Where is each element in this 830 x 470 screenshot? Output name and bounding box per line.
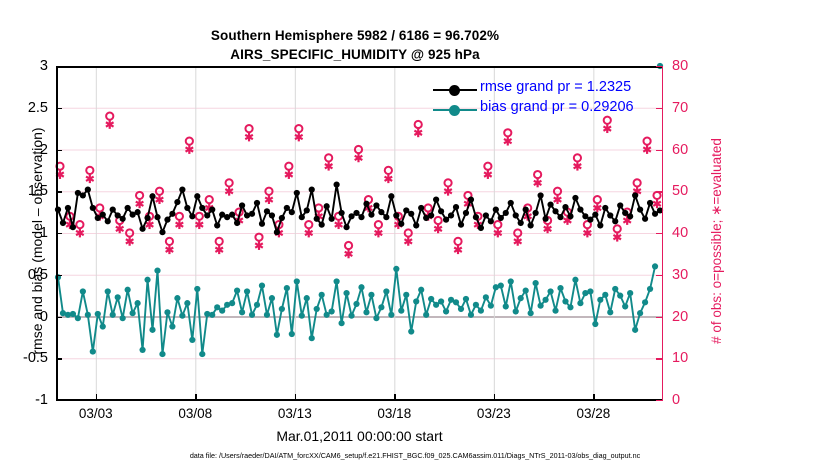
axis-frame-bottom — [56, 399, 663, 401]
series-point — [299, 313, 305, 319]
series-point — [234, 288, 240, 294]
chart-title-line1: Southern Hemisphere 5982 / 6186 = 96.702… — [0, 28, 710, 43]
series-point — [159, 351, 165, 357]
axis-frame-top — [56, 66, 663, 68]
series-point — [274, 229, 280, 235]
series-point — [80, 192, 86, 198]
obs-possible-marker — [534, 171, 541, 178]
series-point — [423, 312, 429, 318]
series-point — [433, 197, 439, 203]
obs-possible-marker — [554, 188, 561, 195]
obs-possible-marker — [345, 242, 352, 249]
series-point — [319, 292, 325, 298]
obs-possible-marker — [226, 179, 233, 186]
obs-evaluated-marker — [385, 174, 393, 183]
series-point — [528, 310, 534, 316]
series-point — [418, 287, 424, 293]
series-point — [115, 294, 121, 300]
series-point — [184, 205, 190, 211]
obs-evaluated-marker — [613, 233, 621, 242]
series-point — [214, 222, 220, 228]
series-point — [209, 312, 215, 318]
series-point — [189, 337, 195, 343]
series-point — [135, 300, 141, 306]
obs-possible-marker — [444, 179, 451, 186]
series-point — [249, 211, 255, 217]
series-point — [597, 297, 603, 303]
series-point — [284, 285, 290, 291]
y-axis-right-tick-mark — [656, 275, 663, 276]
obs-evaluated-marker — [603, 124, 611, 133]
series-point — [632, 192, 638, 198]
series-point — [120, 315, 126, 321]
series-point — [542, 297, 548, 303]
series-point — [284, 205, 290, 211]
series-point — [353, 301, 359, 307]
series-point — [388, 193, 394, 199]
series-point — [498, 215, 504, 221]
obs-possible-marker — [216, 238, 223, 245]
obs-possible-marker — [196, 213, 203, 220]
series-point — [70, 224, 76, 230]
obs-possible-marker — [255, 234, 262, 241]
y-axis-left-tick-mark — [56, 108, 62, 109]
obs-possible-marker — [385, 167, 392, 174]
series-point — [289, 209, 295, 215]
series-point — [478, 225, 484, 231]
series-point — [239, 202, 245, 208]
y-axis-left-tick-mark — [56, 317, 62, 318]
series-point — [219, 308, 225, 314]
obs-possible-marker — [325, 154, 332, 161]
series-point — [319, 222, 325, 228]
obs-possible-marker — [484, 163, 491, 170]
obs-possible-marker — [435, 217, 442, 224]
series-point — [154, 214, 160, 220]
series-point — [642, 299, 648, 305]
obs-evaluated-marker — [335, 220, 343, 229]
obs-evaluated-marker — [444, 187, 452, 196]
series-point — [542, 216, 548, 222]
series-point — [65, 205, 71, 211]
series-point — [572, 195, 578, 201]
obs-possible-marker — [305, 221, 312, 228]
obs-evaluated-marker — [305, 229, 313, 238]
obs-evaluated-marker — [295, 133, 303, 142]
series-point — [577, 300, 583, 306]
x-axis-tick-label: 03/18 — [377, 406, 411, 421]
y-axis-left-tick-mark — [56, 358, 62, 359]
obs-possible-marker — [494, 221, 501, 228]
data-file-caption: data file: /Users/raeder/DAI/ATM_forcXX/… — [0, 451, 830, 460]
series-point — [274, 332, 280, 338]
series-point — [159, 229, 165, 235]
series-point — [363, 309, 369, 315]
x-axis-tick-label: 03/23 — [477, 406, 511, 421]
series-point — [607, 309, 613, 315]
series-point — [70, 311, 76, 317]
series-point — [627, 290, 633, 296]
series-point — [229, 212, 235, 218]
x-axis-tick-label: 03/28 — [576, 406, 610, 421]
series-point — [438, 298, 444, 304]
obs-evaluated-marker — [156, 195, 164, 204]
series-point — [209, 207, 215, 213]
y-axis-right-tick-mark — [656, 191, 663, 192]
y-axis-right-tick-label: 40 — [672, 225, 712, 241]
series-point — [279, 306, 285, 312]
series-point — [647, 286, 653, 292]
x-axis-tick-label: 03/03 — [79, 406, 113, 421]
y-axis-right-tick-label: 0 — [672, 392, 712, 408]
series-point — [95, 311, 101, 317]
obs-possible-marker — [156, 188, 163, 195]
series-point — [125, 205, 131, 211]
series-point — [259, 221, 265, 227]
obs-possible-marker — [425, 204, 432, 211]
series-point — [617, 293, 623, 299]
series-point — [239, 309, 245, 315]
y-axis-right-tick-label: 20 — [672, 309, 712, 325]
series-point — [398, 308, 404, 314]
series-point — [483, 294, 489, 300]
x-axis-tick-mark — [195, 394, 196, 401]
obs-evaluated-marker — [554, 195, 562, 204]
obs-evaluated-marker — [434, 224, 442, 233]
obs-possible-marker — [504, 129, 511, 136]
series-point — [428, 296, 434, 302]
series-point — [577, 207, 583, 213]
obs-possible-marker — [245, 125, 252, 132]
obs-evaluated-marker — [345, 249, 353, 258]
series-point — [229, 300, 235, 306]
series-point — [602, 205, 608, 211]
y-axis-right-tick-label: 60 — [672, 142, 712, 158]
y-axis-right-tick-label: 70 — [672, 100, 712, 116]
y-axis-left-tick-mark — [56, 233, 62, 234]
series-point — [547, 288, 553, 294]
series-point — [254, 302, 260, 308]
series-point — [458, 222, 464, 228]
series-point — [383, 214, 389, 220]
obs-possible-marker — [76, 221, 83, 228]
series-point — [612, 218, 618, 224]
series-point — [602, 292, 608, 298]
series-point — [373, 315, 379, 321]
series-point — [90, 205, 96, 211]
series-point — [368, 212, 374, 218]
series-point — [264, 312, 270, 318]
series-point — [174, 199, 180, 205]
series-point — [443, 308, 449, 314]
series-point — [592, 321, 598, 327]
obs-possible-marker — [454, 238, 461, 245]
obs-evaluated-marker — [195, 220, 203, 229]
obs-possible-marker — [166, 238, 173, 245]
y-axis-right-tick-mark — [656, 66, 663, 67]
legend-item-bias[interactable]: bias grand pr = 0.29206 — [433, 100, 658, 120]
obs-evaluated-marker — [504, 137, 512, 146]
obs-possible-marker — [653, 192, 660, 199]
y-axis-left-tick-mark — [56, 150, 62, 151]
series-point — [488, 218, 494, 224]
series-point — [488, 303, 494, 309]
series-point — [652, 263, 658, 269]
series-point — [110, 312, 116, 318]
series-point — [329, 308, 335, 314]
series-point — [393, 266, 399, 272]
y-axis-right-tick-label: 10 — [672, 350, 712, 366]
series-point — [174, 295, 180, 301]
series-point — [453, 299, 459, 305]
series-point — [528, 222, 534, 228]
obs-evaluated-marker — [186, 145, 194, 154]
series-point — [179, 186, 185, 192]
series-point — [627, 213, 633, 219]
obs-evaluated-marker — [404, 237, 412, 246]
series-point — [567, 213, 573, 219]
series-point — [538, 303, 544, 309]
obs-evaluated-marker — [514, 237, 522, 246]
legend-marker-swatch — [449, 85, 460, 96]
series-point — [334, 278, 340, 284]
obs-evaluated-marker — [166, 245, 174, 254]
series-point — [309, 186, 315, 192]
obs-evaluated-marker — [116, 224, 124, 233]
series-point — [567, 304, 573, 310]
obs-evaluated-marker — [574, 162, 582, 171]
series-point — [294, 190, 300, 196]
obs-evaluated-marker — [106, 120, 114, 129]
series-point — [60, 220, 66, 226]
series-point — [378, 304, 384, 310]
series-point — [403, 292, 409, 298]
series-point — [557, 214, 563, 220]
series-point — [587, 217, 593, 223]
series-point — [428, 212, 434, 218]
x-axis-tick-mark — [394, 394, 395, 401]
series-point — [264, 208, 270, 214]
series-point — [552, 308, 558, 314]
series-point — [144, 277, 150, 283]
obs-evaluated-marker — [414, 128, 422, 137]
series-point — [478, 308, 484, 314]
obs-evaluated-marker — [454, 245, 462, 254]
series-point — [139, 226, 145, 232]
series-point — [443, 217, 449, 223]
series-point — [343, 290, 349, 296]
series-point — [632, 327, 638, 333]
series-point — [408, 211, 414, 217]
series-point — [194, 193, 200, 199]
series-point — [338, 320, 344, 326]
obs-evaluated-marker — [265, 195, 273, 204]
obs-possible-marker — [514, 229, 521, 236]
series-point — [468, 312, 474, 318]
series-point — [637, 207, 643, 213]
series-point — [204, 212, 210, 218]
series-point — [562, 204, 568, 210]
series-point — [289, 331, 295, 337]
series-point — [453, 204, 459, 210]
obs-evaluated-marker — [176, 220, 184, 229]
obs-possible-marker — [126, 229, 133, 236]
series-point — [269, 212, 275, 218]
series-point — [607, 212, 613, 218]
y-axis-right-tick-label: 50 — [672, 183, 712, 199]
series-point — [368, 292, 374, 298]
series-point — [358, 214, 364, 220]
obs-possible-marker — [415, 121, 422, 128]
series-point — [587, 288, 593, 294]
series-point — [647, 200, 653, 206]
y-axis-left-label: rmse and bias (model – observation) — [29, 76, 45, 406]
series-point — [338, 210, 344, 216]
y-axis-right-tick-mark — [656, 233, 663, 234]
series-point — [189, 213, 195, 219]
x-axis-tick-label: 03/08 — [178, 406, 212, 421]
x-axis-label: Mar.01,2011 00:00:00 start — [56, 428, 663, 444]
obs-possible-marker — [355, 146, 362, 153]
series-point — [358, 284, 364, 290]
obs-evaluated-marker — [285, 170, 293, 179]
series-point — [80, 288, 86, 294]
series-point — [388, 312, 394, 318]
chart-figure: Southern Hemisphere 5982 / 6186 = 96.702… — [0, 0, 830, 470]
series-point — [144, 215, 150, 221]
series-point — [324, 203, 330, 209]
chart-title-line2: AIRS_SPECIFIC_HUMIDITY @ 925 hPa — [0, 47, 710, 62]
series-point — [125, 287, 131, 293]
obs-evaluated-marker — [484, 170, 492, 179]
series-point — [642, 216, 648, 222]
series-point — [343, 224, 349, 230]
obs-possible-marker — [136, 192, 143, 199]
series-point — [438, 208, 444, 214]
series-point — [503, 303, 509, 309]
obs-possible-marker — [375, 221, 382, 228]
legend-marker-swatch — [449, 105, 460, 116]
legend-label: rmse grand pr = 1.2325 — [480, 79, 631, 95]
obs-possible-marker — [86, 167, 93, 174]
legend-item-rmse[interactable]: rmse grand pr = 1.2325 — [433, 80, 658, 100]
series-point — [513, 308, 519, 314]
series-point — [523, 288, 529, 294]
obs-possible-marker — [295, 125, 302, 132]
series-point — [508, 278, 514, 284]
series-point — [458, 306, 464, 312]
series-point — [154, 267, 160, 273]
obs-evaluated-marker — [215, 245, 223, 254]
series-point — [557, 285, 563, 291]
series-point — [413, 222, 419, 228]
series-point — [149, 193, 155, 199]
series-point — [383, 288, 389, 294]
obs-evaluated-marker — [653, 199, 661, 208]
series-point — [164, 217, 170, 223]
series-point — [334, 181, 340, 187]
series-point — [493, 207, 499, 213]
obs-possible-marker — [206, 196, 213, 203]
series-point — [105, 288, 111, 294]
y-axis-left-tick-mark — [56, 191, 62, 192]
obs-evaluated-marker — [355, 153, 363, 162]
obs-evaluated-marker — [494, 229, 502, 238]
series-point — [463, 210, 469, 216]
series-point — [199, 351, 205, 357]
series-point — [508, 200, 514, 206]
obs-possible-marker — [176, 213, 183, 220]
y-axis-left-tick-label: 3 — [0, 58, 48, 74]
series-point — [249, 312, 255, 318]
y-axis-right-tick-label: 30 — [672, 267, 712, 283]
series-point — [120, 216, 126, 222]
chart-legend: rmse grand pr = 1.2325bias grand pr = 0.… — [433, 80, 658, 120]
series-point — [110, 207, 116, 213]
series-point — [130, 310, 136, 316]
obs-evaluated-marker — [86, 174, 94, 183]
series-point — [164, 309, 170, 315]
series-point — [314, 306, 320, 312]
series-point — [483, 212, 489, 218]
obs-possible-marker — [405, 229, 412, 236]
series-point — [523, 207, 529, 213]
series-point — [85, 312, 91, 318]
x-axis-tick-mark — [593, 394, 594, 401]
obs-possible-marker — [574, 154, 581, 161]
series-point — [169, 323, 175, 329]
series-point — [363, 201, 369, 207]
obs-evaluated-marker — [126, 237, 134, 246]
series-point — [622, 303, 628, 309]
obs-possible-marker — [594, 196, 601, 203]
y-axis-right-tick-mark — [656, 150, 663, 151]
obs-possible-marker — [285, 163, 292, 170]
series-point — [184, 300, 190, 306]
series-point — [179, 313, 185, 319]
obs-evaluated-marker — [255, 241, 263, 250]
y-axis-left-tick-mark — [56, 275, 62, 276]
legend-label: bias grand pr = 0.29206 — [480, 99, 634, 115]
series-point — [304, 295, 310, 301]
x-axis-tick-mark — [295, 394, 296, 401]
y-axis-right-tick-mark — [656, 317, 663, 318]
series-point — [617, 202, 623, 208]
obs-evaluated-marker — [225, 187, 233, 196]
series-point — [533, 210, 539, 216]
series-point — [169, 211, 175, 217]
series-point — [309, 335, 315, 341]
series-point — [538, 192, 544, 198]
obs-possible-marker — [614, 225, 621, 232]
series-point — [468, 197, 474, 203]
series-point — [304, 207, 310, 213]
series-point — [498, 283, 504, 289]
series-point — [149, 327, 155, 333]
x-axis-tick-label: 03/13 — [278, 406, 312, 421]
y-axis-right-tick-label: 80 — [672, 58, 712, 74]
series-point — [408, 328, 414, 334]
series-point — [518, 295, 524, 301]
series-point — [269, 295, 275, 301]
obs-evaluated-marker — [534, 179, 542, 188]
obs-evaluated-marker — [544, 224, 552, 233]
series-point — [234, 220, 240, 226]
obs-possible-marker — [265, 188, 272, 195]
series-point — [105, 218, 111, 224]
series-point — [85, 186, 91, 192]
obs-possible-marker — [634, 179, 641, 186]
